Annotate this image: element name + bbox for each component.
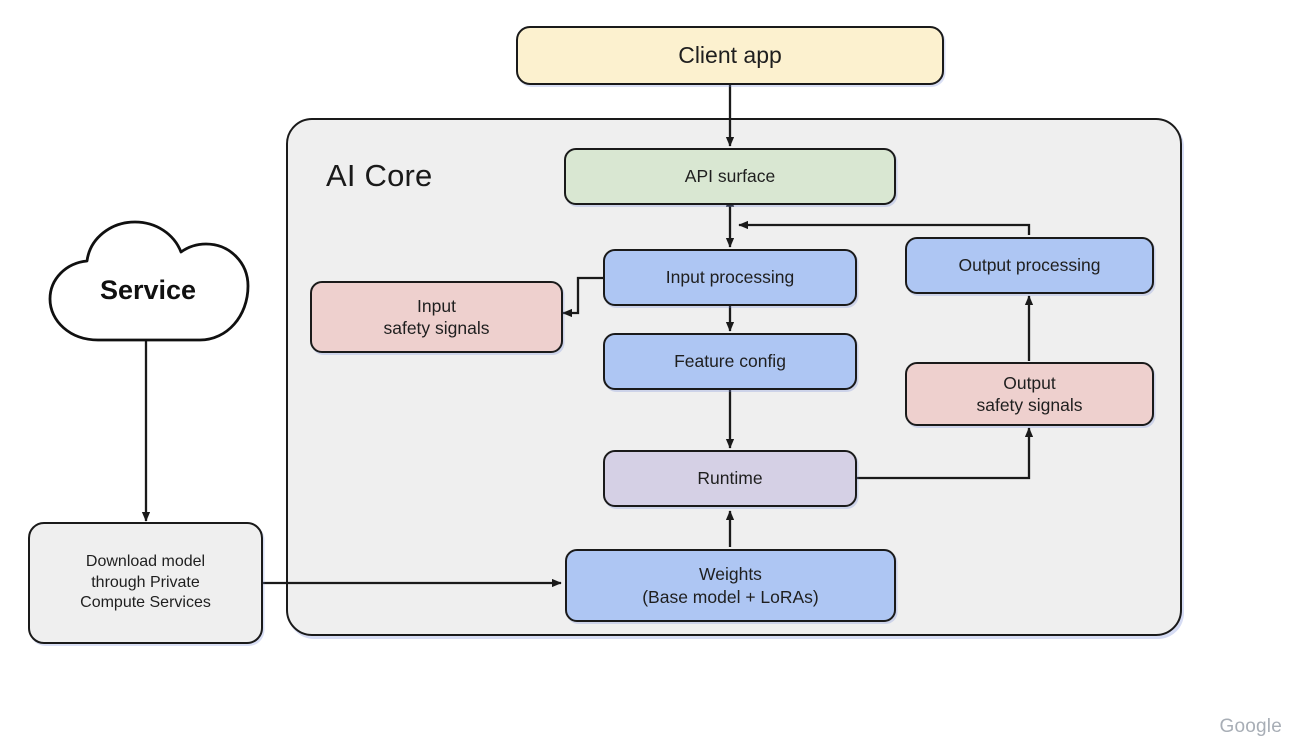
node-client-app[interactable]: Client app — [516, 26, 944, 85]
node-input-safety-signals-label: Input safety signals — [383, 295, 489, 340]
diagram-canvas: AI Core — [0, 0, 1304, 756]
node-runtime-label: Runtime — [697, 467, 762, 489]
node-api-surface-label: API surface — [685, 165, 775, 187]
node-api-surface[interactable]: API surface — [564, 148, 896, 205]
node-input-processing[interactable]: Input processing — [603, 249, 857, 306]
node-output-processing[interactable]: Output processing — [905, 237, 1154, 294]
ai-core-panel-title: AI Core — [326, 158, 433, 194]
node-client-app-label: Client app — [678, 41, 782, 70]
node-output-safety-signals[interactable]: Output safety signals — [905, 362, 1154, 426]
node-weights[interactable]: Weights (Base model + LoRAs) — [565, 549, 896, 622]
service-cloud-label: Service — [40, 275, 256, 306]
node-feature-config[interactable]: Feature config — [603, 333, 857, 390]
node-output-processing-label: Output processing — [958, 254, 1100, 276]
node-runtime[interactable]: Runtime — [603, 450, 857, 507]
node-input-processing-label: Input processing — [666, 266, 794, 288]
node-download-model-label: Download model through Private Compute S… — [80, 552, 211, 613]
node-download-model[interactable]: Download model through Private Compute S… — [28, 522, 263, 644]
node-output-safety-signals-label: Output safety signals — [976, 372, 1082, 417]
google-watermark: Google — [1220, 716, 1282, 738]
node-weights-label: Weights (Base model + LoRAs) — [642, 563, 819, 608]
node-input-safety-signals[interactable]: Input safety signals — [310, 281, 563, 353]
node-feature-config-label: Feature config — [674, 350, 786, 372]
